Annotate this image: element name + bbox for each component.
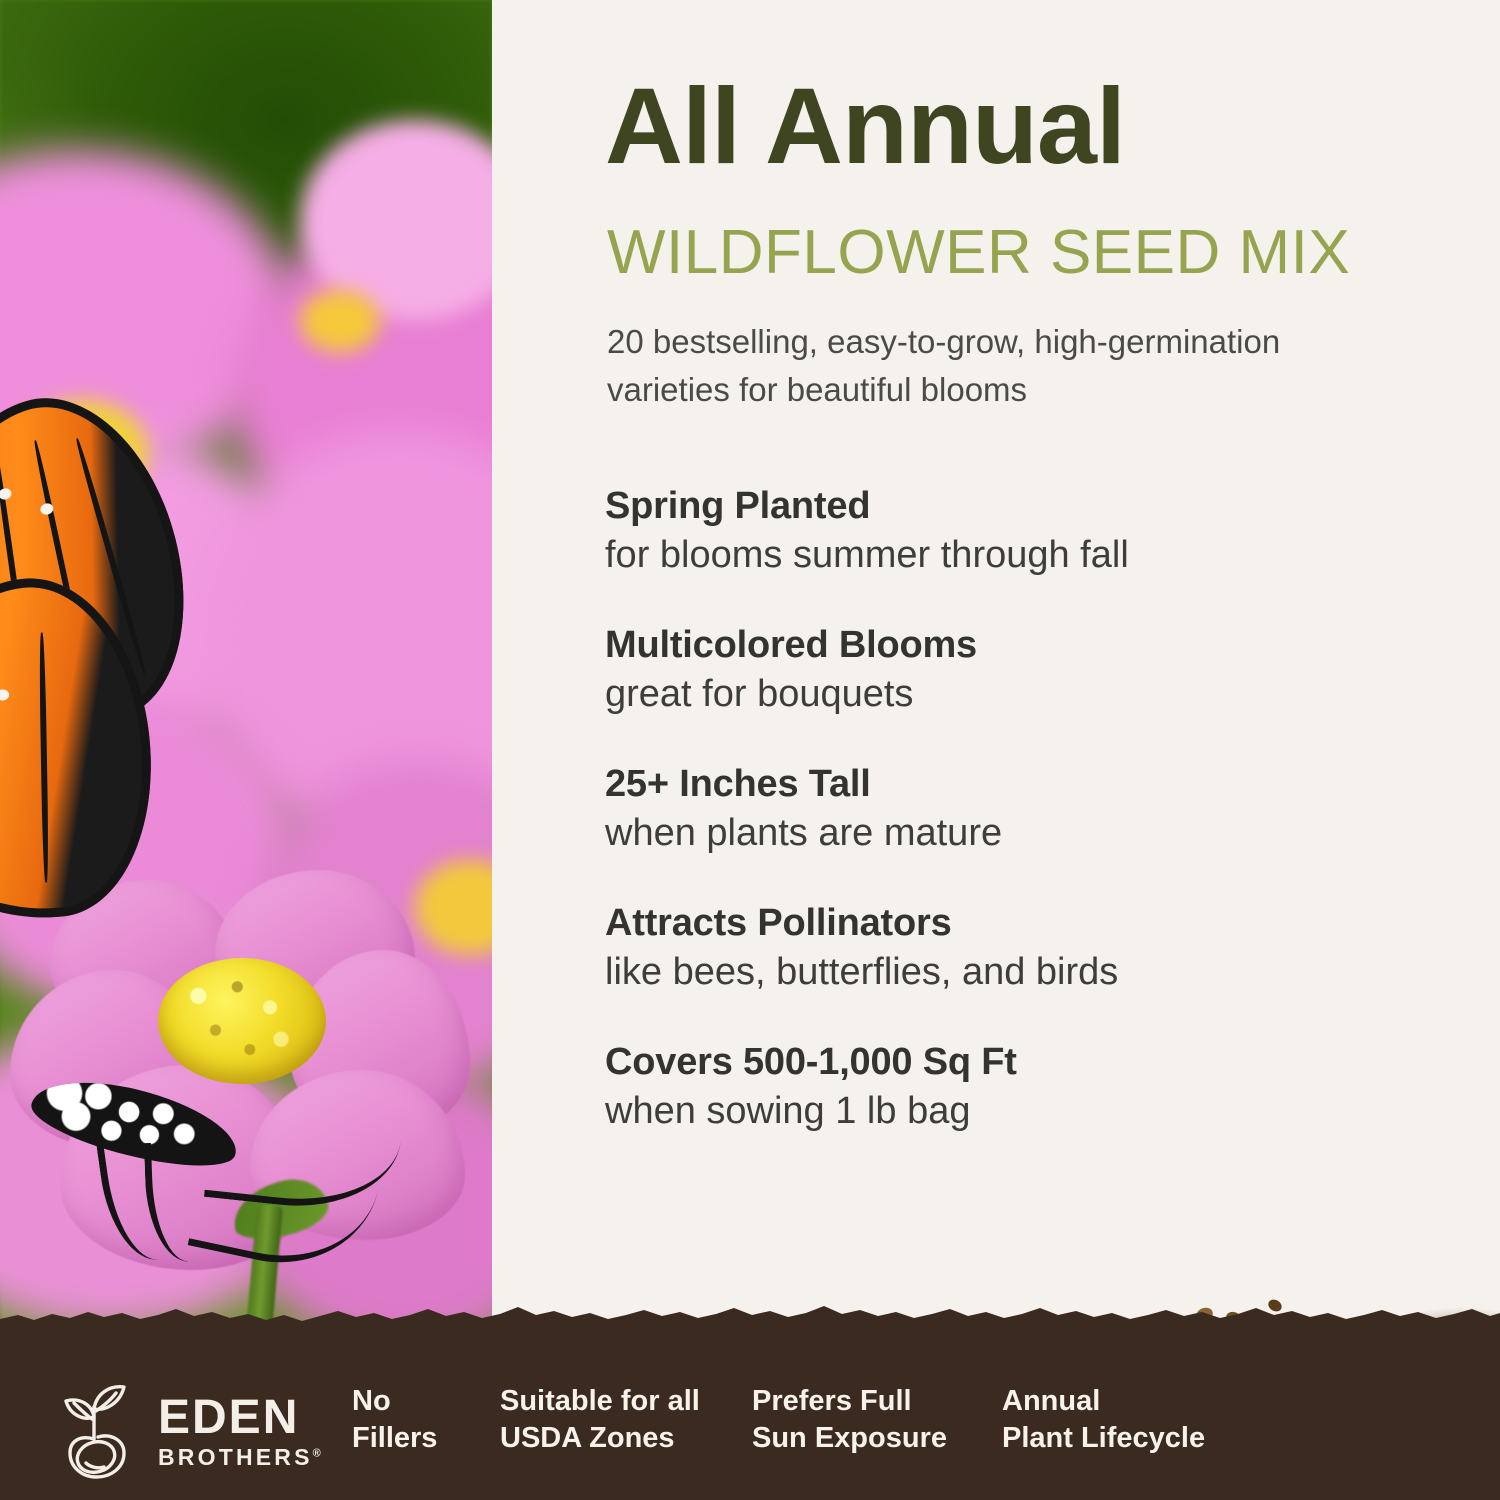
feature-item: 25+ Inches Tall when plants are mature: [605, 763, 1445, 858]
page-title: All Annual: [605, 72, 1485, 180]
page-subtitle: WILDFLOWER SEED MIX: [607, 222, 1487, 284]
badge-line-2: USDA Zones: [500, 1420, 752, 1457]
feature-title: Attracts Pollinators: [605, 902, 1445, 946]
torn-soil-edge: [0, 1303, 1500, 1333]
badge-sun-exposure: Prefers Full Sun Exposure: [752, 1383, 1002, 1457]
feature-subtitle: when sowing 1 lb bag: [605, 1087, 1445, 1136]
badge-line-2: Plant Lifecycle: [1002, 1420, 1252, 1457]
badge-line-1: Annual: [1002, 1385, 1100, 1417]
badge-line-1: Prefers Full: [752, 1385, 912, 1417]
content-panel: All Annual WILDFLOWER SEED MIX 20 bestse…: [492, 0, 1500, 1500]
flower-center-disc: [158, 958, 326, 1084]
product-description: 20 bestselling, easy-to-grow, high-germi…: [607, 318, 1407, 414]
badge-line-1: Suitable for all: [500, 1385, 700, 1417]
wing-spot: [0, 689, 10, 701]
footer-bar: EDEN BROTHERS® No Fillers Suitable for a…: [0, 1325, 1500, 1500]
feature-title: Multicolored Blooms: [605, 624, 1445, 668]
attribute-badges: No Fillers Suitable for all USDA Zones P…: [352, 1383, 1252, 1457]
badge-no-fillers: No Fillers: [352, 1383, 500, 1457]
feature-subtitle: great for bouquets: [605, 670, 1445, 719]
registered-trademark-mark: ®: [313, 1447, 321, 1459]
brand-name-secondary-text: BROTHERS: [158, 1444, 313, 1470]
feature-item: Spring Planted for blooms summer through…: [605, 485, 1445, 580]
badge-line-2: Sun Exposure: [752, 1420, 1002, 1457]
feature-title: 25+ Inches Tall: [605, 763, 1445, 807]
feature-item: Attracts Pollinators like bees, butterfl…: [605, 902, 1445, 997]
brand-wordmark: EDEN BROTHERS®: [158, 1394, 321, 1469]
badge-usda-zones: Suitable for all USDA Zones: [500, 1383, 752, 1457]
feature-subtitle: for blooms summer through fall: [605, 531, 1445, 580]
feature-title: Covers 500-1,000 Sq Ft: [605, 1041, 1445, 1085]
brand-name-secondary: BROTHERS®: [158, 1446, 321, 1469]
description-line-2: varieties for beautiful blooms: [607, 366, 1407, 414]
brand-name-primary: EDEN: [158, 1394, 321, 1442]
feature-subtitle: like bees, butterflies, and birds: [605, 948, 1445, 997]
wing-spot: [0, 487, 13, 501]
feature-list: Spring Planted for blooms summer through…: [605, 485, 1445, 1180]
product-infographic: All Annual WILDFLOWER SEED MIX 20 bestse…: [0, 0, 1500, 1500]
badge-plant-lifecycle: Annual Plant Lifecycle: [1002, 1383, 1252, 1457]
seed-sprout-icon: [50, 1377, 142, 1485]
feature-title: Spring Planted: [605, 485, 1445, 529]
brand-logo: EDEN BROTHERS®: [50, 1377, 321, 1485]
description-line-1: 20 bestselling, easy-to-grow, high-germi…: [607, 318, 1407, 366]
wing-vein: [39, 633, 49, 883]
badge-line-1: No: [352, 1385, 391, 1417]
feature-item: Multicolored Blooms great for bouquets: [605, 624, 1445, 719]
badge-line-2: Fillers: [352, 1420, 500, 1457]
monarch-butterfly: [0, 390, 310, 950]
hero-photo: [0, 0, 492, 1500]
petal-yellow-center-blur: [300, 290, 380, 352]
feature-item: Covers 500-1,000 Sq Ft when sowing 1 lb …: [605, 1041, 1445, 1136]
feature-subtitle: when plants are mature: [605, 809, 1445, 858]
